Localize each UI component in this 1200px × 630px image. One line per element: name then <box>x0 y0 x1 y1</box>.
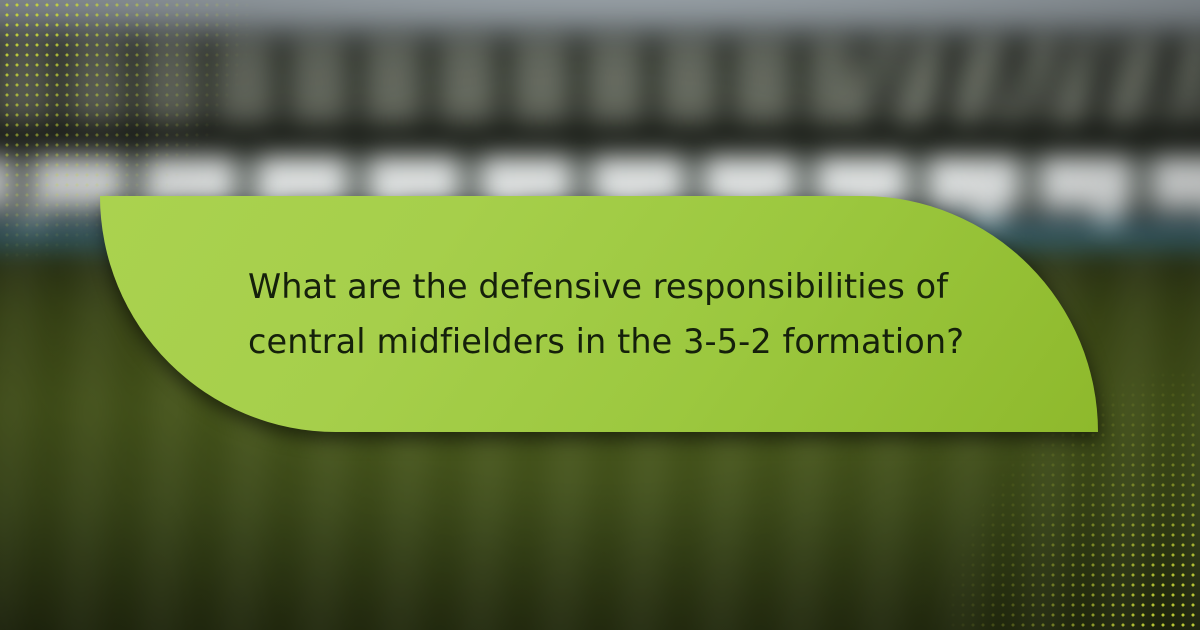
question-card: What are the defensive responsibilities … <box>100 196 1098 432</box>
poster-canvas: What are the defensive responsibilities … <box>0 0 1200 630</box>
question-title: What are the defensive responsibilities … <box>248 259 988 369</box>
